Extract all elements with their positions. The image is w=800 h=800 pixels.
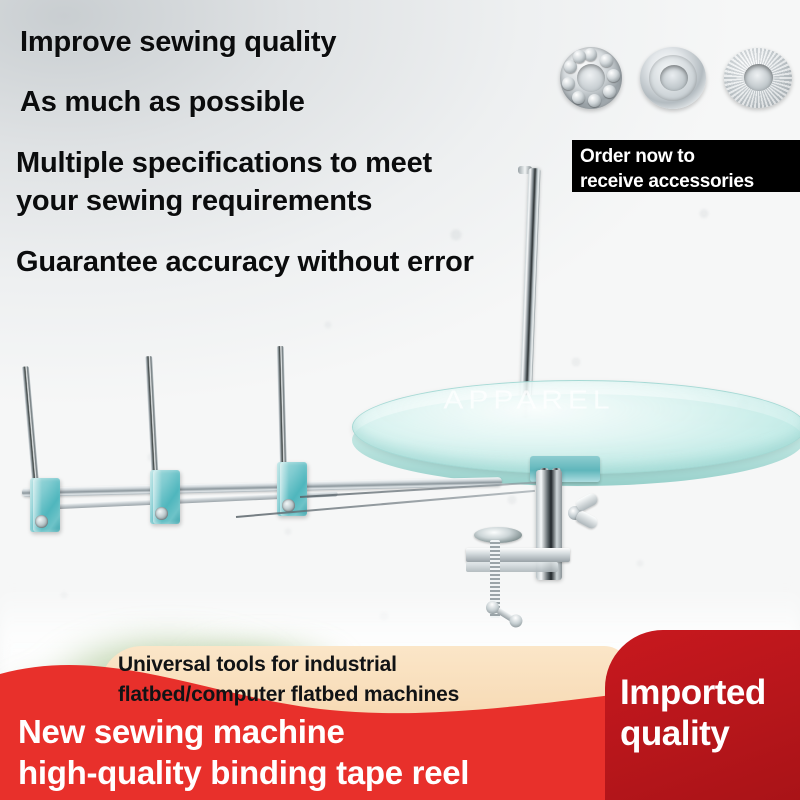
- accessory-parts-group: [560, 30, 800, 125]
- flat-washer-icon: [724, 48, 792, 108]
- cream-panel-text: Universal tools for industrial flatbed/c…: [118, 650, 618, 710]
- clamp-lower-arm: [466, 562, 558, 572]
- glass-tape-disc: APPAREL: [352, 378, 800, 490]
- ball-bearing-cage-icon: [560, 47, 622, 109]
- bearing-race-washer-icon: [640, 47, 706, 109]
- product-banner-image: APPAREL Imp: [0, 0, 800, 800]
- bracket-clamp-1: [30, 478, 60, 532]
- headline-improve-quality: Improve sewing quality: [20, 26, 336, 59]
- order-now-badge: Order now to receive accessories: [572, 140, 800, 192]
- bearing-balls: [560, 47, 622, 109]
- wing-nut-icon: [568, 496, 610, 530]
- headline-multiple-specifications: Multiple specifications to meet your sew…: [16, 144, 432, 221]
- bracket-clamp-2: [150, 470, 180, 524]
- glass-watermark-text: APPAREL: [414, 387, 644, 416]
- clamp-upper-arm: [466, 548, 570, 562]
- headline-guarantee-accuracy: Guarantee accuracy without error: [16, 246, 474, 279]
- headline-as-much-as-possible: As much as possible: [20, 86, 305, 119]
- bracket-clamp-3: [277, 462, 307, 516]
- product-title: New sewing machine high-quality binding …: [18, 712, 618, 794]
- imported-quality-text: Imported quality: [620, 672, 800, 755]
